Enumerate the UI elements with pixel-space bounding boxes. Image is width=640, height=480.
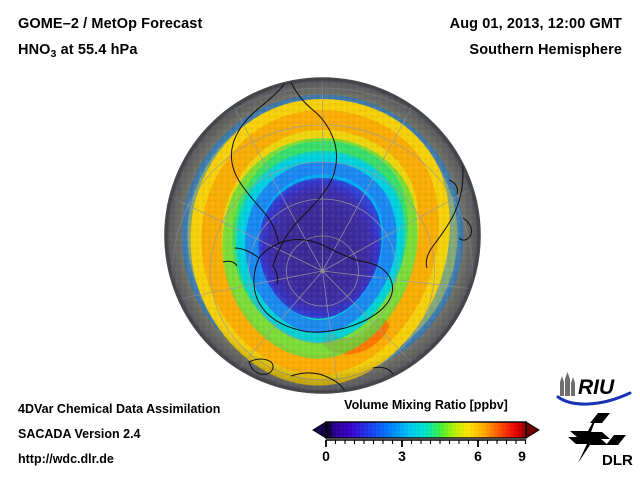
species-level-label: HNO3 at 55.4 hPa — [18, 42, 137, 60]
riu-wordmark: RIU — [578, 376, 615, 399]
assimilation-label: 4DVar Chemical Data Assimilation — [18, 402, 220, 416]
species-level-suffix: at 55.4 hPa — [56, 42, 137, 58]
species-formula-prefix: HNO — [18, 42, 51, 58]
website-link[interactable]: http://wdc.dlr.de — [18, 452, 114, 466]
polar-projection-map — [163, 76, 482, 395]
colorbar-tick-label-9: 9 — [518, 448, 526, 464]
colorbar: Volume Mixing Ratio [ppbv] — [312, 398, 540, 476]
globe-svg — [163, 76, 482, 395]
version-label: SACADA Version 2.4 — [18, 427, 141, 441]
dlr-wordmark: DLR — [602, 452, 633, 469]
riu-towers-icon — [560, 372, 575, 396]
colorbar-tick-label-3: 3 — [398, 448, 406, 464]
colorbar-dither — [326, 422, 526, 438]
colorbar-title: Volume Mixing Ratio [ppbv] — [312, 398, 540, 412]
colorbar-major-ticks — [326, 440, 540, 447]
figure-root: GOME–2 / MetOp Forecast HNO3 at 55.4 hPa… — [0, 0, 640, 480]
colorbar-minor-ticks — [336, 440, 526, 444]
riu-logo: RIU — [556, 370, 634, 408]
limb-shading — [165, 78, 481, 394]
colorbar-under-arrow — [313, 422, 326, 438]
colorbar-tick-label-0: 0 — [322, 448, 330, 464]
colorbar-svg — [312, 419, 540, 449]
colorbar-over-arrow — [526, 422, 539, 438]
page-title: GOME–2 / MetOp Forecast — [18, 16, 202, 32]
hemisphere-label: Southern Hemisphere — [469, 42, 622, 58]
dlr-logo: DLR — [568, 411, 634, 469]
datetime-label: Aug 01, 2013, 12:00 GMT — [450, 16, 622, 32]
colorbar-tick-label-6: 6 — [474, 448, 482, 464]
